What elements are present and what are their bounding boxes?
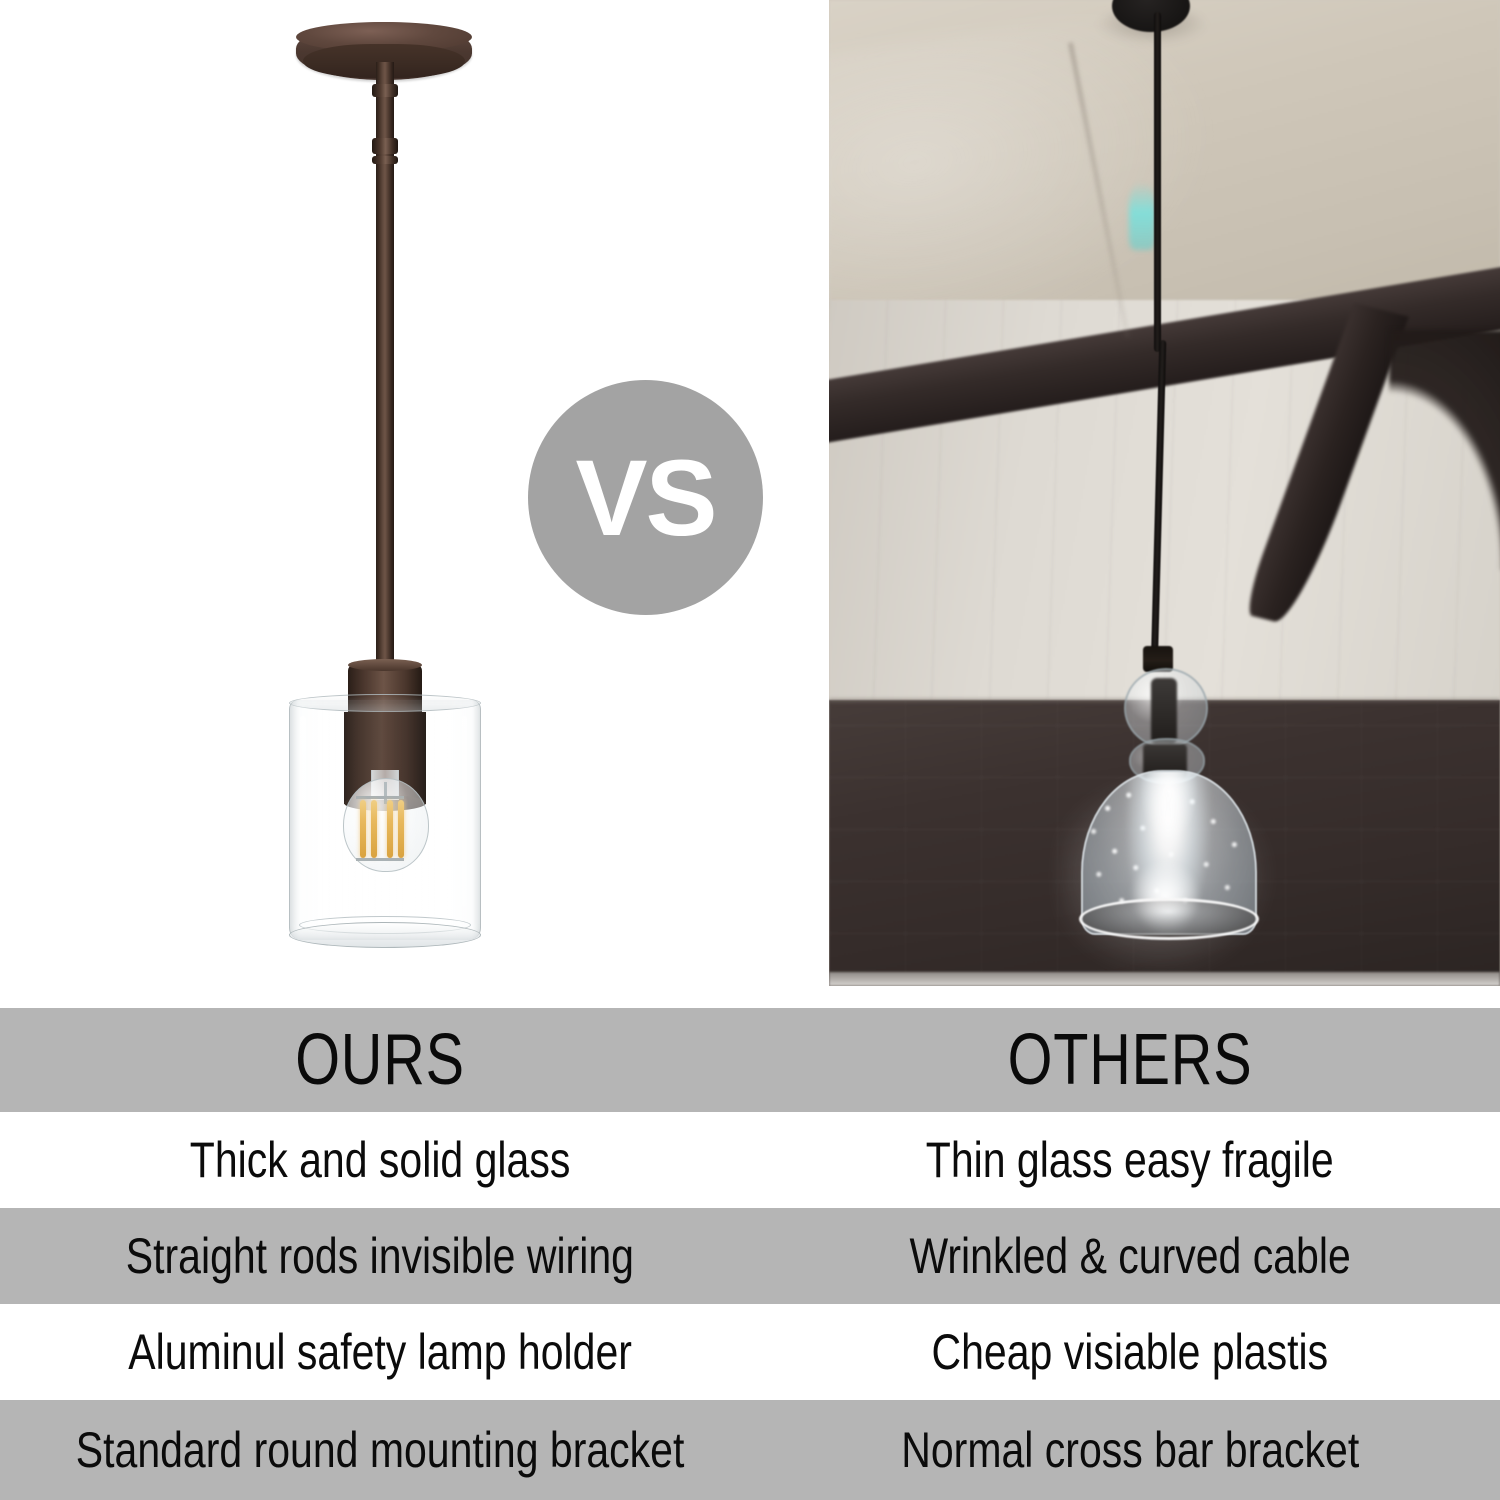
column-header-others: OTHERS bbox=[1008, 1019, 1253, 1101]
shade-bottom-rim bbox=[289, 922, 481, 948]
feature-ours-1: Thick and solid glass bbox=[190, 1131, 571, 1189]
shade-highlight-right bbox=[462, 716, 467, 924]
photo-shade-bottom-rim bbox=[1079, 898, 1259, 940]
cell-ours-1: Thick and solid glass bbox=[0, 1112, 760, 1208]
vs-badge-label: VS bbox=[575, 444, 715, 552]
rod-collar-joint bbox=[372, 138, 398, 154]
photo-bottom-edge bbox=[829, 972, 1500, 986]
feature-others-2: Wrinkled & curved cable bbox=[909, 1227, 1350, 1285]
shade-highlight-left bbox=[300, 716, 306, 924]
feature-others-1: Thin glass easy fragile bbox=[926, 1131, 1334, 1189]
filament-bar-bottom bbox=[356, 858, 404, 861]
photo-curved-beam bbox=[1389, 330, 1500, 570]
cell-ours-2: Straight rods invisible wiring bbox=[0, 1208, 760, 1304]
table-row: Aluminul safety lamp holder Cheap visiab… bbox=[0, 1304, 1500, 1400]
filament-strip bbox=[371, 800, 377, 858]
cell-ours-4: Standard round mounting bracket bbox=[0, 1400, 760, 1500]
feature-ours-3: Aluminul safety lamp holder bbox=[128, 1323, 632, 1381]
top-image-area: VS bbox=[0, 0, 1500, 1008]
feature-ours-4: Standard round mounting bracket bbox=[76, 1421, 685, 1479]
table-row: Thick and solid glass Thin glass easy fr… bbox=[0, 1112, 1500, 1208]
feature-others-3: Cheap visiable plastis bbox=[932, 1323, 1329, 1381]
comparison-infographic: VS bbox=[0, 0, 1500, 1500]
table-row: Straight rods invisible wiring Wrinkled … bbox=[0, 1208, 1500, 1304]
cell-others-2: Wrinkled & curved cable bbox=[760, 1208, 1500, 1304]
photo-teal-reflection bbox=[1129, 182, 1155, 250]
filament-bar-top bbox=[356, 796, 404, 799]
feature-ours-2: Straight rods invisible wiring bbox=[126, 1227, 634, 1285]
filament-strip bbox=[398, 800, 404, 858]
rod-collar-upper bbox=[372, 84, 398, 97]
cell-others-1: Thin glass easy fragile bbox=[760, 1112, 1500, 1208]
cell-ours-3: Aluminul safety lamp holder bbox=[0, 1304, 760, 1400]
header-cell-ours: OURS bbox=[0, 1008, 760, 1112]
table-header-row: OURS OTHERS bbox=[0, 1008, 1500, 1112]
filament-strip bbox=[387, 800, 393, 858]
cell-others-4: Normal cross bar bracket bbox=[760, 1400, 1500, 1500]
cell-others-3: Cheap visiable plastis bbox=[760, 1304, 1500, 1400]
table-row: Standard round mounting bracket Normal c… bbox=[0, 1400, 1500, 1500]
rod-collar-ring bbox=[372, 156, 398, 164]
vs-badge: VS bbox=[528, 380, 763, 615]
filament-strip bbox=[360, 800, 366, 858]
others-product-photo bbox=[829, 0, 1500, 986]
header-cell-others: OTHERS bbox=[760, 1008, 1500, 1112]
feature-others-4: Normal cross bar bracket bbox=[901, 1421, 1359, 1479]
photo-hanging-cable bbox=[1154, 12, 1161, 352]
comparison-table: OURS OTHERS Thick and solid glass Thin g… bbox=[0, 1008, 1500, 1500]
column-header-ours: OURS bbox=[295, 1019, 465, 1101]
photo-glass-ball-core bbox=[1151, 678, 1177, 744]
